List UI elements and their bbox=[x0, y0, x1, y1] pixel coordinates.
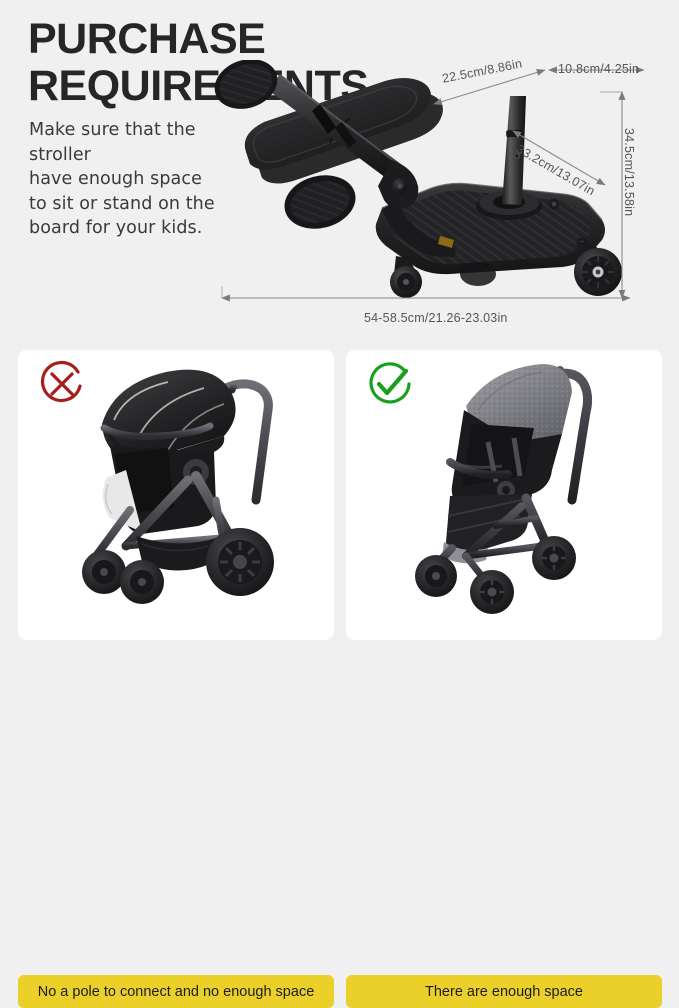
comparison-panel-incorrect bbox=[18, 350, 334, 640]
comparison-section: No a pole to connect and no enough space… bbox=[0, 345, 679, 679]
cross-mark-icon bbox=[38, 360, 86, 408]
infographic-page: PURCHASE REQUIREMENTS Make sure that the… bbox=[0, 0, 679, 679]
title-line-1: PURCHASE bbox=[28, 16, 428, 63]
dimension-seat-width: 10.8cm/4.25in bbox=[558, 62, 639, 76]
caption-correct: There are enough space bbox=[346, 975, 662, 1008]
hero-section: PURCHASE REQUIREMENTS Make sure that the… bbox=[0, 0, 679, 345]
comparison-panel-correct bbox=[346, 350, 662, 640]
dimension-total-width: 54-58.5cm/21.26-23.03in bbox=[364, 311, 508, 325]
check-mark-icon bbox=[366, 360, 414, 408]
dimension-total-height: 34.5cm/13.58in bbox=[622, 128, 636, 216]
caption-incorrect: No a pole to connect and no enough space bbox=[18, 975, 334, 1008]
